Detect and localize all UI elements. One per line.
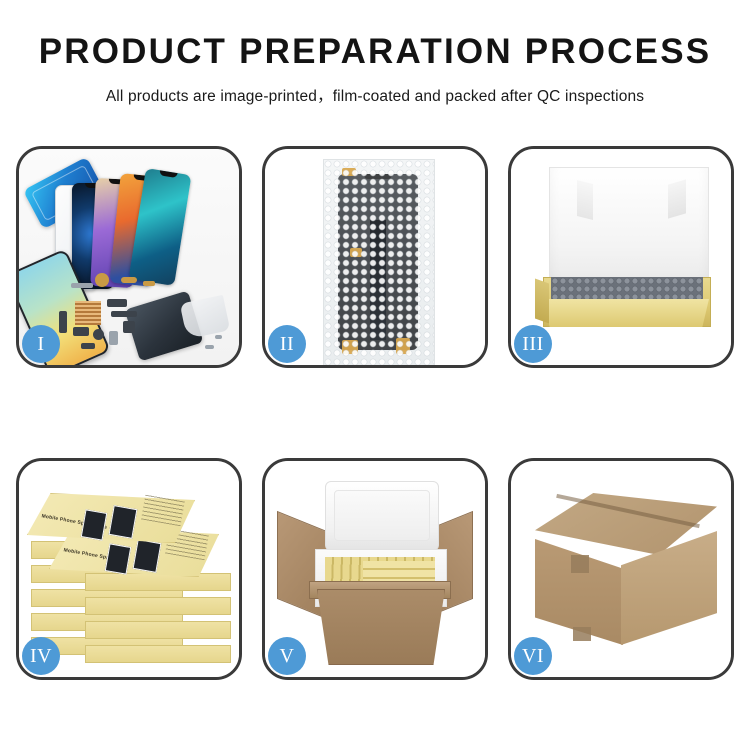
step-6-numeral-badge: VI bbox=[514, 637, 552, 675]
retail-box bbox=[85, 573, 231, 591]
page-header: PRODUCT PREPARATION PROCESS All products… bbox=[0, 0, 750, 106]
spare-part-graphic bbox=[73, 327, 89, 336]
step-2-numeral-badge: II bbox=[268, 325, 306, 363]
process-step-3[interactable]: III bbox=[508, 146, 734, 368]
spare-part-graphic bbox=[95, 273, 109, 287]
retail-box bbox=[85, 597, 231, 615]
spare-part-graphic bbox=[59, 311, 67, 333]
foam-lid-graphic bbox=[325, 481, 439, 551]
process-step-4[interactable]: Mobile Phone Spare Parts Mobile Phone Sp… bbox=[16, 458, 242, 680]
page-title: PRODUCT PREPARATION PROCESS bbox=[0, 34, 750, 71]
lid-flap-right bbox=[668, 179, 686, 218]
box-lid-graphic bbox=[549, 167, 709, 289]
spare-part-graphic bbox=[109, 331, 118, 345]
step-1-numeral-badge: I bbox=[22, 325, 60, 363]
spare-part-graphic bbox=[71, 283, 93, 288]
box-window-graphic bbox=[133, 539, 162, 573]
spare-part-graphic bbox=[121, 277, 137, 283]
spare-part-graphic bbox=[123, 321, 135, 333]
step-4-numeral-badge: IV bbox=[22, 637, 60, 675]
lid-flap-left bbox=[577, 180, 593, 220]
bubble-wrap-bag bbox=[323, 159, 435, 365]
box-front-panel bbox=[543, 299, 709, 327]
step-3-numeral-badge: III bbox=[514, 325, 552, 363]
retail-box bbox=[85, 621, 231, 639]
spare-part-graphic bbox=[143, 281, 155, 286]
process-step-2[interactable]: II bbox=[262, 146, 488, 368]
spare-part-graphic bbox=[111, 311, 137, 317]
process-step-5[interactable]: V bbox=[262, 458, 488, 680]
bubble-texture bbox=[324, 160, 434, 365]
chip-board-graphic bbox=[75, 301, 101, 325]
box-window-graphic bbox=[109, 505, 138, 539]
spare-part-graphic bbox=[215, 335, 222, 339]
spare-part-graphic bbox=[81, 343, 95, 349]
spare-part-graphic bbox=[107, 299, 127, 307]
retail-box bbox=[85, 645, 231, 663]
carton-tape-patch bbox=[571, 555, 589, 573]
process-step-grid: I II III bbox=[16, 146, 738, 680]
spare-part-graphic bbox=[93, 329, 104, 340]
process-step-6[interactable]: VI bbox=[508, 458, 734, 680]
process-step-1[interactable]: I bbox=[16, 146, 242, 368]
box-side-panel bbox=[535, 278, 549, 323]
page-subtitle: All products are image-printed，film-coat… bbox=[0, 84, 750, 106]
step-5-numeral-badge: V bbox=[268, 637, 306, 675]
carton-tape-patch bbox=[573, 627, 591, 641]
spare-part-graphic bbox=[205, 345, 214, 349]
carton-body bbox=[317, 589, 445, 665]
